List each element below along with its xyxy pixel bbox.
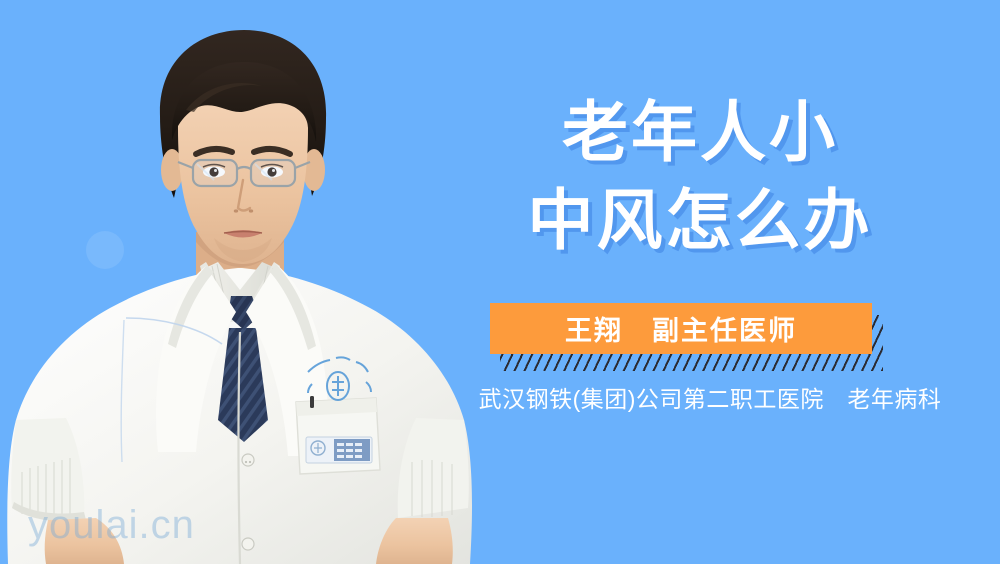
doctor-portrait-photo <box>0 0 500 564</box>
title-line-2: 中风怎么办 <box>470 176 930 264</box>
title-line-1: 老年人小 <box>470 88 930 176</box>
promo-banner: 老年人小 中风怎么办 王翔 副主任医师 武汉钢铁(集团)公司第二职工医院 老年病… <box>0 0 1000 564</box>
doctor-credential-badge: 王翔 副主任医师 <box>490 303 900 375</box>
badge-label: 王翔 副主任医师 <box>565 309 797 348</box>
hospital-affiliation: 武汉钢铁(集团)公司第二职工医院 老年病科 <box>430 380 990 414</box>
video-title: 老年人小 中风怎么办 <box>470 88 930 264</box>
badge-plate: 王翔 副主任医师 <box>490 303 872 354</box>
